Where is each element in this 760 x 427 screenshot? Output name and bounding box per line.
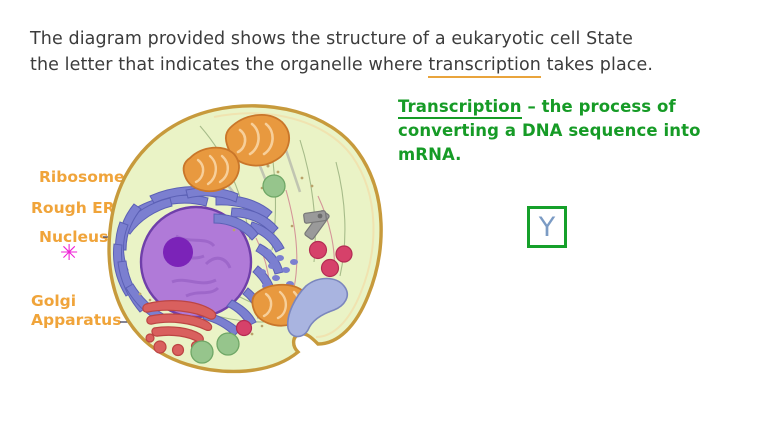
screenshot-canvas: The diagram provided shows the structure… bbox=[0, 0, 760, 427]
eukaryotic-cell-diagram bbox=[0, 0, 760, 427]
nucleolus bbox=[163, 237, 193, 267]
